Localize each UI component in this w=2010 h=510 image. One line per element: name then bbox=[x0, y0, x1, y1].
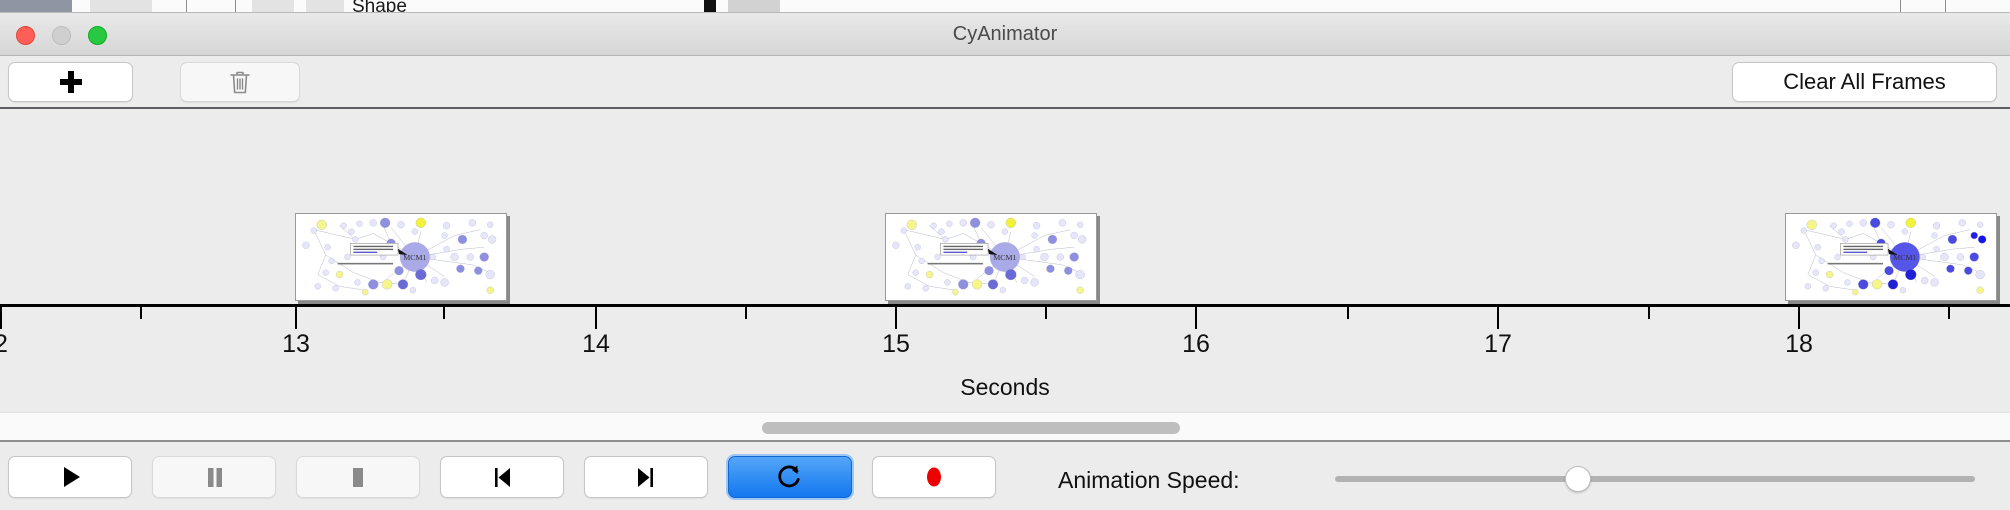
loop-button[interactable] bbox=[728, 456, 852, 498]
title-bar: CyAnimator bbox=[0, 13, 2010, 56]
network-thumbnail: MCM1 bbox=[886, 214, 1096, 300]
slider-thumb[interactable] bbox=[1565, 466, 1591, 492]
ruler-tick-minor bbox=[1948, 307, 1950, 319]
svg-text:MCM1: MCM1 bbox=[1893, 253, 1916, 262]
ruler-tick-major bbox=[295, 307, 297, 329]
ruler-tick-major bbox=[895, 307, 897, 329]
pause-button[interactable] bbox=[152, 456, 276, 498]
timeline-frame-thumbnail[interactable]: MCM1 bbox=[885, 213, 1097, 301]
skip-to-end-button[interactable] bbox=[584, 456, 708, 498]
background-window-strip: Shape bbox=[0, 0, 2010, 13]
scrollbar-thumb[interactable] bbox=[762, 422, 1180, 434]
loop-icon bbox=[775, 462, 805, 492]
svg-text:MCM1: MCM1 bbox=[403, 253, 426, 262]
stop-icon bbox=[343, 462, 373, 492]
timeline-frames-area[interactable]: MCM1MCM1MCM1 bbox=[0, 111, 2010, 304]
timeline-frame-thumbnail[interactable]: MCM1 bbox=[295, 213, 507, 301]
timeline-frame-thumbnail[interactable]: MCM1 bbox=[1785, 213, 1997, 301]
ruler-tick-major bbox=[1798, 307, 1800, 329]
bg-chip bbox=[306, 0, 344, 13]
play-icon bbox=[55, 462, 85, 492]
trash-icon bbox=[229, 69, 251, 95]
ruler-tick-major bbox=[595, 307, 597, 329]
ruler-tick-label: 16 bbox=[1182, 330, 1210, 359]
clear-all-frames-button[interactable]: Clear All Frames bbox=[1732, 62, 1997, 102]
ruler-tick-minor bbox=[1045, 307, 1047, 319]
ruler-tick-minor bbox=[745, 307, 747, 319]
bg-dark-chip bbox=[0, 0, 72, 13]
bg-divider bbox=[1900, 0, 1901, 13]
plus-icon bbox=[58, 69, 84, 95]
skip-forward-icon bbox=[631, 462, 661, 492]
network-thumbnail: MCM1 bbox=[296, 214, 506, 300]
bg-chip bbox=[252, 0, 294, 13]
bg-divider bbox=[235, 0, 236, 13]
timeline-horizontal-scrollbar[interactable] bbox=[0, 412, 2010, 440]
animation-speed-slider[interactable] bbox=[1335, 466, 1975, 492]
ruler-tick-label: 14 bbox=[582, 330, 610, 359]
bg-dark-chip bbox=[704, 0, 716, 13]
clear-all-frames-label: Clear All Frames bbox=[1783, 69, 1946, 95]
ruler-tick-major bbox=[1497, 307, 1499, 329]
ruler-tick-minor bbox=[1648, 307, 1650, 319]
ruler-tick-label: 18 bbox=[1785, 330, 1813, 359]
bg-divider bbox=[1945, 0, 1946, 13]
skip-backward-icon bbox=[487, 462, 517, 492]
ruler-tick-minor bbox=[443, 307, 445, 319]
axis-label: Seconds bbox=[0, 374, 2010, 401]
bg-divider bbox=[186, 0, 187, 13]
ruler-baseline bbox=[0, 304, 2010, 307]
network-thumbnail: MCM1 bbox=[1786, 214, 1996, 300]
timeline-ruler[interactable]: 2131415161718 bbox=[0, 304, 2010, 366]
ruler-tick-minor bbox=[140, 307, 142, 319]
ruler-tick-minor bbox=[1347, 307, 1349, 319]
window-title: CyAnimator bbox=[0, 13, 2010, 56]
bg-chip bbox=[90, 0, 152, 13]
animation-speed-label: Animation Speed: bbox=[1058, 467, 1240, 494]
bg-chip bbox=[728, 0, 780, 13]
record-button[interactable] bbox=[872, 456, 996, 498]
play-button[interactable] bbox=[8, 456, 132, 498]
frame-toolbar: Clear All Frames bbox=[0, 56, 2010, 109]
delete-frame-button[interactable] bbox=[180, 62, 300, 102]
ruler-tick-label: 15 bbox=[882, 330, 910, 359]
slider-track bbox=[1335, 476, 1975, 482]
ruler-tick-label: 17 bbox=[1484, 330, 1512, 359]
ruler-tick-major bbox=[0, 307, 2, 329]
record-icon bbox=[919, 462, 949, 492]
pause-icon bbox=[199, 462, 229, 492]
skip-to-start-button[interactable] bbox=[440, 456, 564, 498]
playback-control-bar: Animation Speed: bbox=[0, 440, 2010, 510]
svg-text:MCM1: MCM1 bbox=[993, 253, 1016, 262]
stop-button[interactable] bbox=[296, 456, 420, 498]
ruler-tick-label: 2 bbox=[0, 330, 8, 359]
bg-window-label: Shape bbox=[352, 0, 407, 13]
ruler-tick-major bbox=[1195, 307, 1197, 329]
ruler-tick-label: 13 bbox=[282, 330, 310, 359]
add-frame-button[interactable] bbox=[8, 62, 133, 102]
